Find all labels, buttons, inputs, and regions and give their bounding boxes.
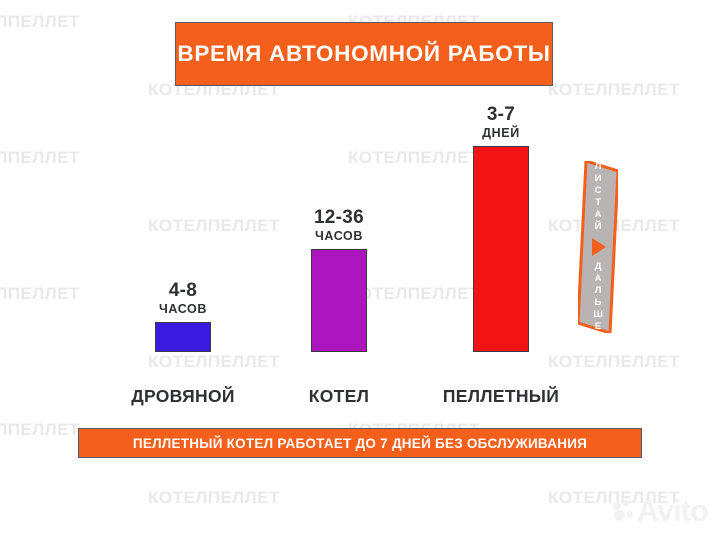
swipe-label-top: ЛИСТАЙ: [592, 161, 603, 233]
bar-rect: [155, 322, 211, 352]
bar-value-unit: ЧАСОВ: [159, 302, 207, 317]
bar-group-drovyanoy: 4-8 ЧАСОВ: [155, 281, 211, 352]
bottom-callout-banner: ПЕЛЛЕТНЫЙ КОТЕЛ РАБОТАЕТ ДО 7 ДНЕЙ БЕЗ О…: [78, 428, 642, 458]
play-triangle-icon: [592, 238, 606, 256]
swipe-banner-content: ЛИСТАЙ ДАЛЬШЕ: [578, 161, 618, 333]
bar-category-line1: ПЕЛЛЕТНЫЙ: [443, 386, 559, 406]
bar-value-range: 3-7: [482, 105, 520, 125]
bottom-callout-text: ПЕЛЛЕТНЫЙ КОТЕЛ РАБОТАЕТ ДО 7 ДНЕЙ БЕЗ О…: [133, 436, 587, 451]
swipe-label-bottom: ДАЛЬШЕ: [592, 261, 603, 333]
bar-category-line1: КОТЕЛ: [309, 386, 369, 406]
bar-category-line1: ДРОВЯНОЙ: [131, 386, 235, 406]
swipe-next-banner[interactable]: ЛИСТАЙ ДАЛЬШЕ: [578, 161, 618, 333]
bar-group-poluavtomat: 12-36 ЧАСОВ: [311, 208, 367, 352]
bar-value-range: 12-36: [314, 208, 364, 228]
bar-value-label: 4-8 ЧАСОВ: [159, 281, 207, 317]
bar-value-unit: ДНЕЙ: [482, 126, 520, 141]
bar-value-range: 4-8: [159, 281, 207, 301]
bar-group-pelletnyy: 3-7 ДНЕЙ: [473, 105, 529, 352]
bar-value-unit: ЧАСОВ: [314, 229, 364, 244]
bar-value-label: 3-7 ДНЕЙ: [482, 105, 520, 141]
bar-rect: [473, 146, 529, 352]
bar-rect: [311, 249, 367, 352]
infographic-content: ВРЕМЯ АВТОНОМНОЙ РАБОТЫ 4-8 ЧАСОВ ДРОВЯН…: [0, 0, 720, 540]
bar-value-label: 12-36 ЧАСОВ: [314, 208, 364, 244]
